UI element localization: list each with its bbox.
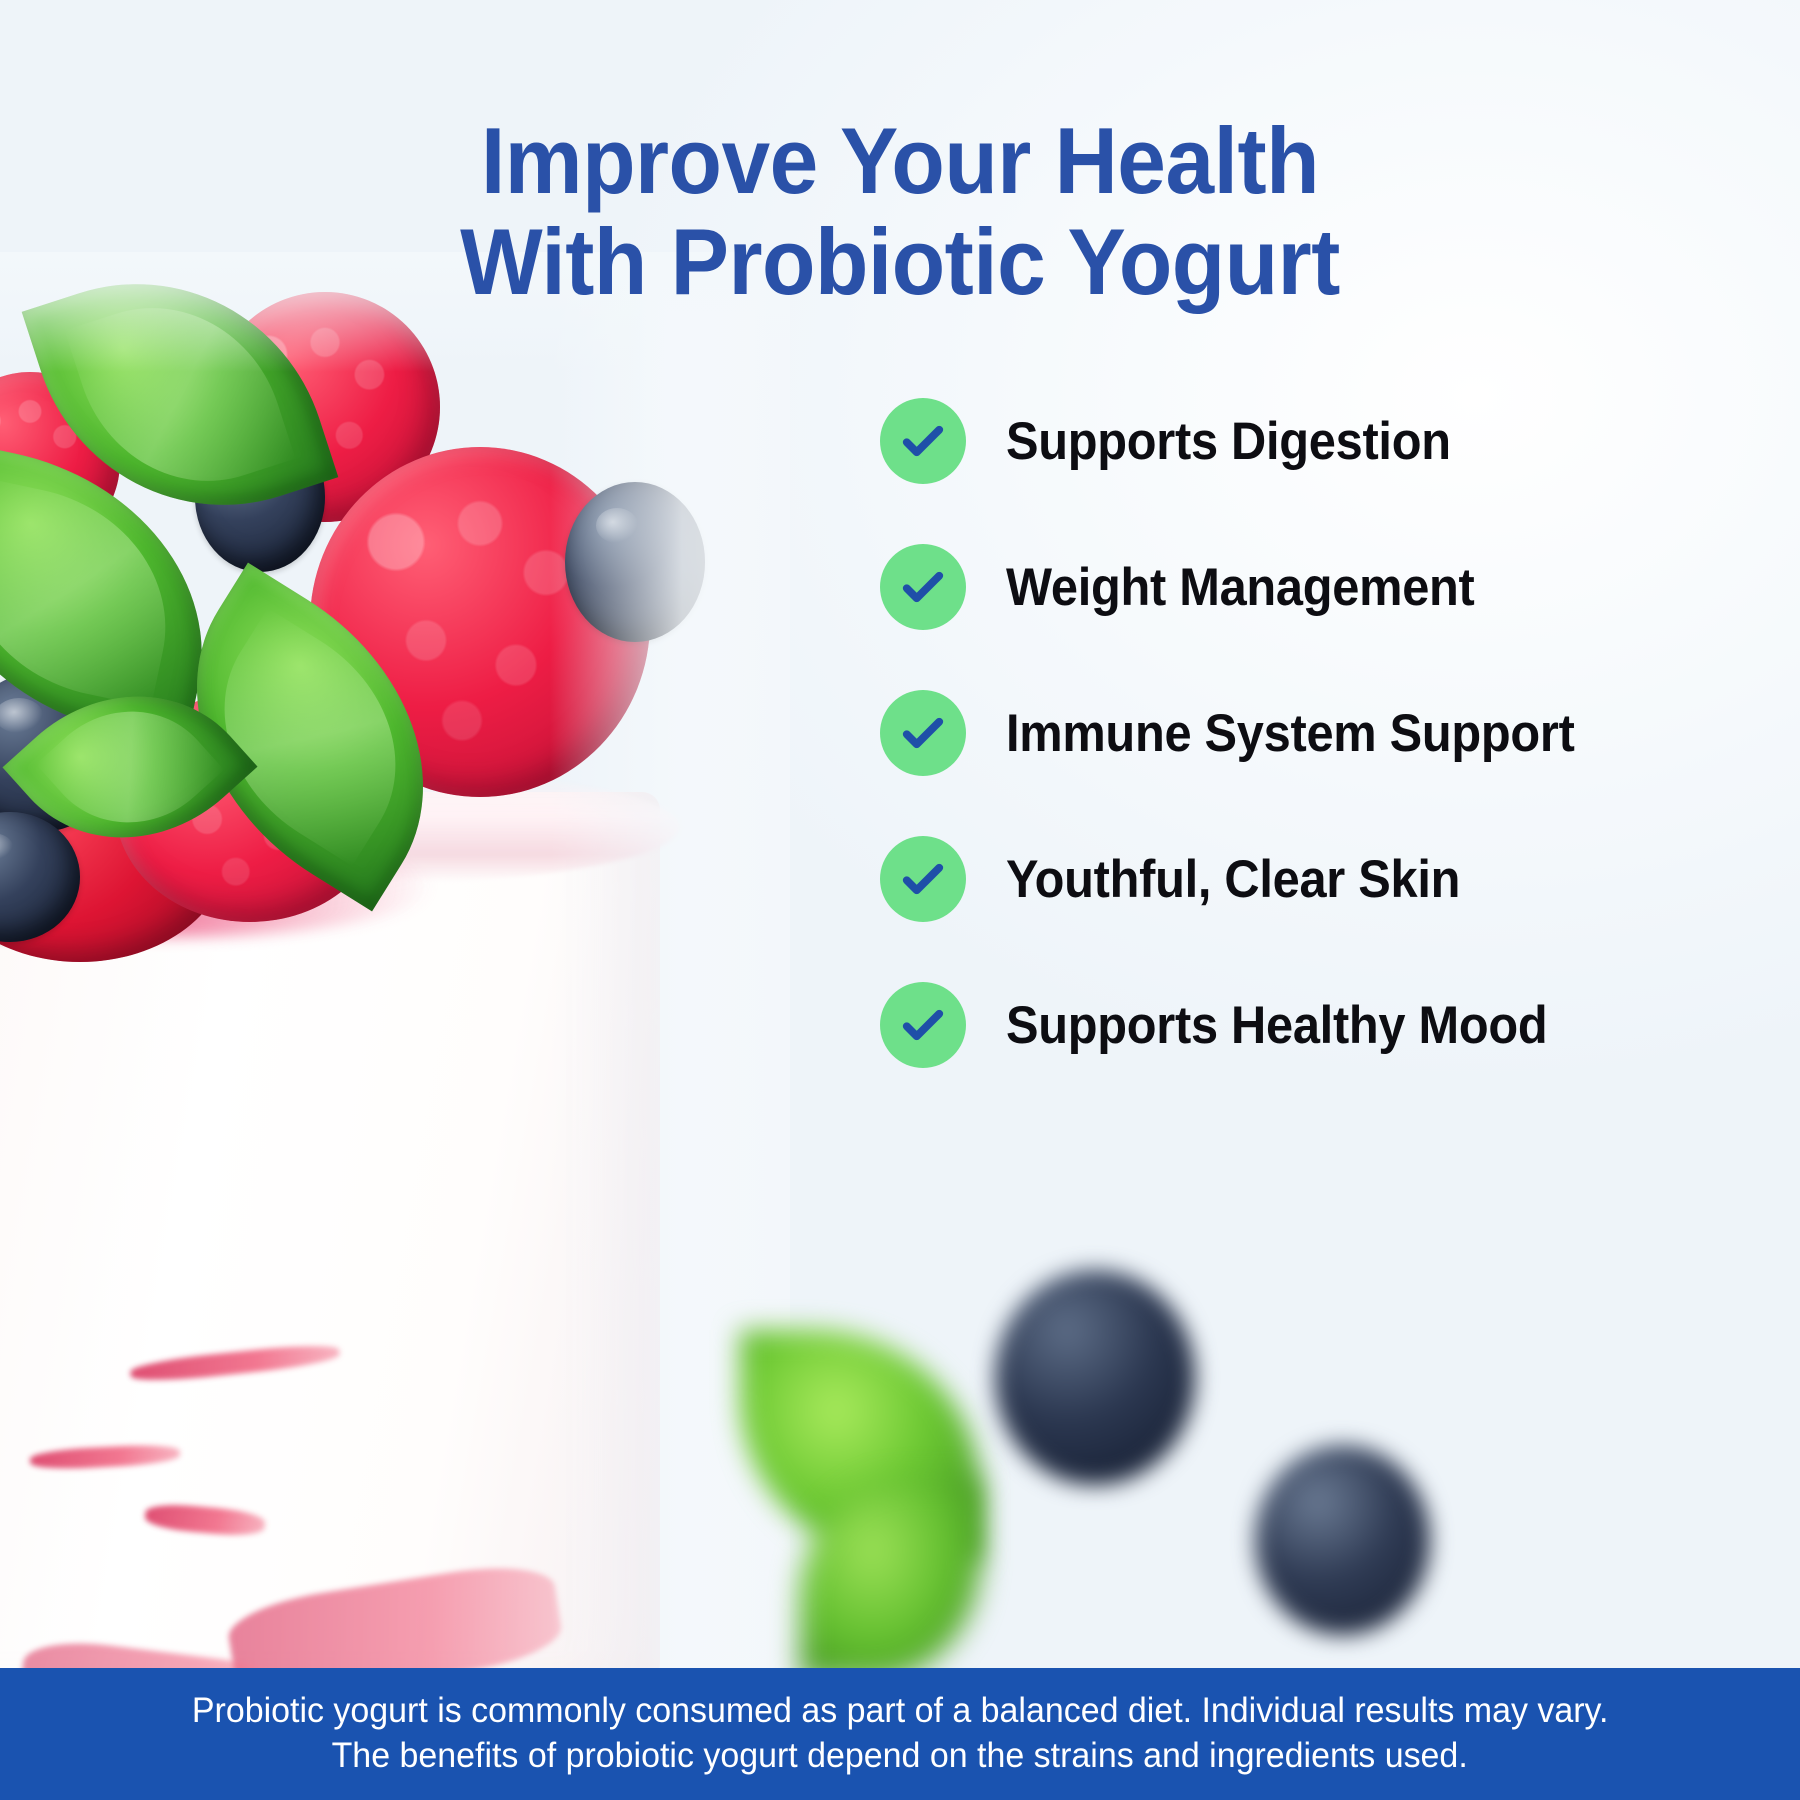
check-icon <box>880 398 966 484</box>
benefit-item-supports-healthy-mood: Supports Healthy Mood <box>880 952 1700 1098</box>
benefit-label: Weight Management <box>1006 557 1475 618</box>
check-icon <box>880 544 966 630</box>
check-icon <box>880 982 966 1068</box>
page-title: Improve Your Health With Probiotic Yogur… <box>63 111 1737 312</box>
check-icon <box>880 690 966 776</box>
benefit-label: Immune System Support <box>1006 703 1575 764</box>
photo-inner <box>0 252 790 1670</box>
page-title-line-1: Improve Your Health <box>63 111 1737 212</box>
disclaimer-line-1: Probiotic yogurt is commonly consumed as… <box>192 1689 1609 1734</box>
benefits-list: Supports Digestion Weight Management Imm… <box>880 368 1700 1098</box>
disclaimer-bar: Probiotic yogurt is commonly consumed as… <box>0 1668 1800 1800</box>
check-icon <box>880 836 966 922</box>
benefit-item-immune-system-support: Immune System Support <box>880 660 1700 806</box>
page-title-line-2: With Probiotic Yogurt <box>63 212 1737 313</box>
blurred-blueberry <box>995 1270 1195 1485</box>
yogurt-parfait-photo <box>0 252 790 1670</box>
benefit-item-weight-management: Weight Management <box>880 514 1700 660</box>
benefit-item-supports-digestion: Supports Digestion <box>880 368 1700 514</box>
benefit-label: Supports Digestion <box>1006 411 1451 472</box>
disclaimer-line-2: The benefits of probiotic yogurt depend … <box>332 1734 1468 1779</box>
benefit-item-youthful-clear-skin: Youthful, Clear Skin <box>880 806 1700 952</box>
probiotic-yogurt-infographic: Improve Your Health With Probiotic Yogur… <box>0 0 1800 1800</box>
benefit-label: Supports Healthy Mood <box>1006 995 1547 1056</box>
blurred-blueberry <box>1255 1445 1430 1635</box>
benefit-label: Youthful, Clear Skin <box>1006 849 1460 910</box>
